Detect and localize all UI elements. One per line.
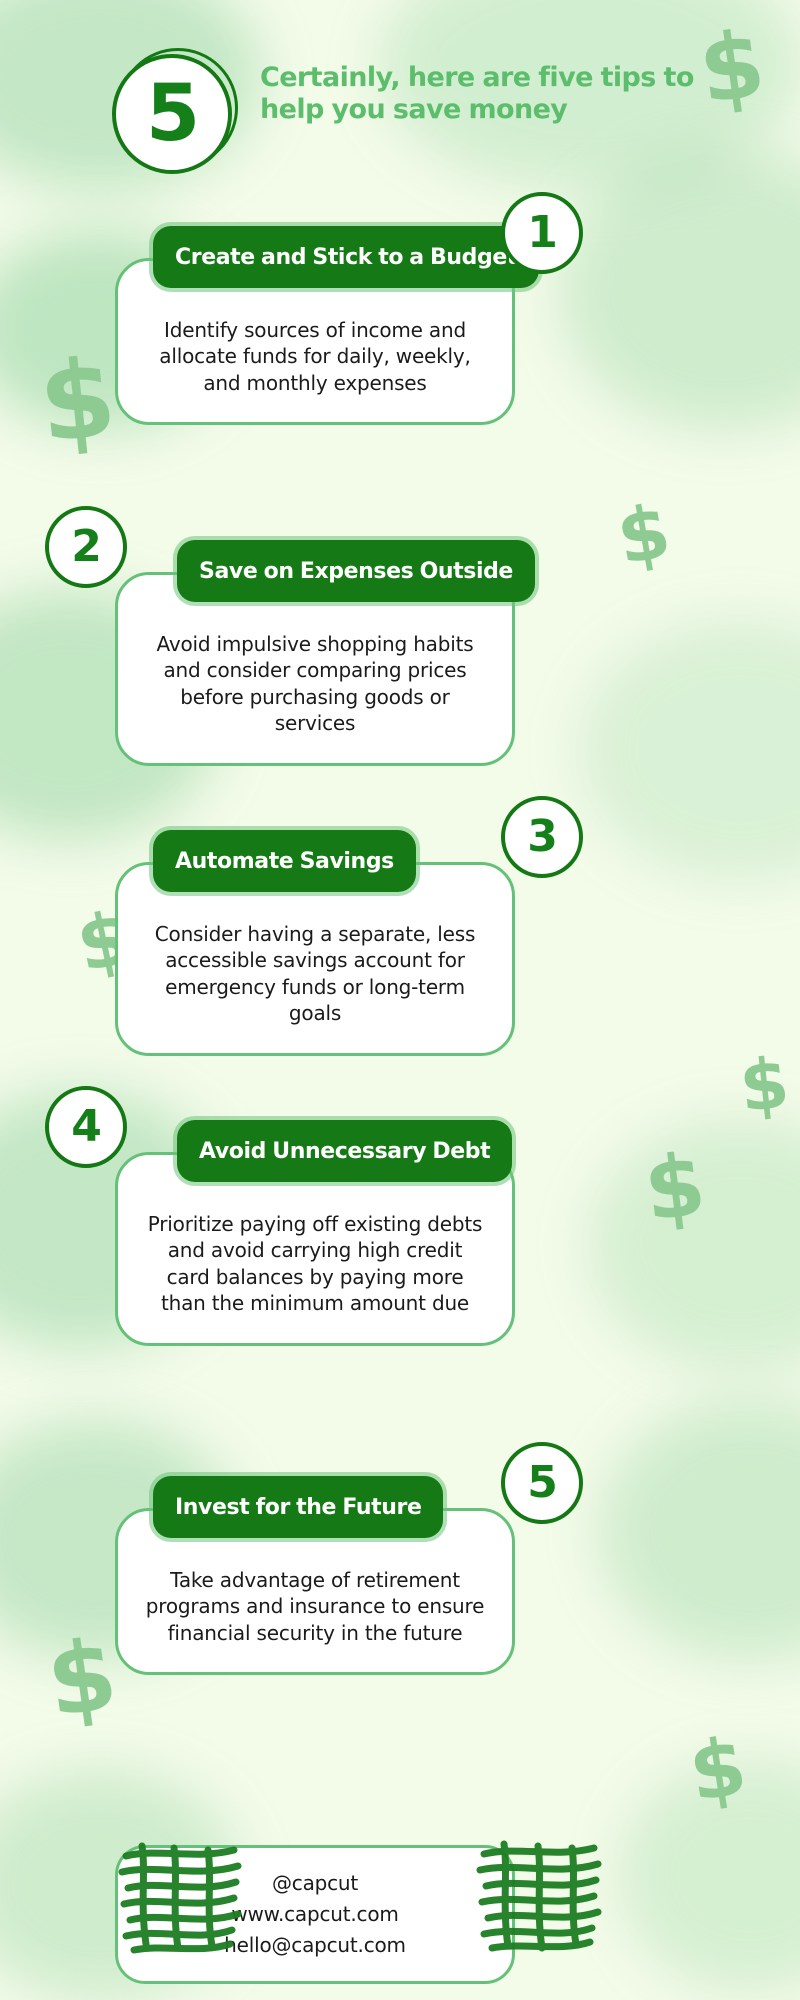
- tip-card-1-number-badge: 1: [501, 192, 583, 274]
- footer-website[interactable]: www.capcut.com: [136, 1899, 494, 1930]
- tip-card-2-header: Save on Expenses Outside: [177, 540, 535, 602]
- hero-badge-number: 5: [146, 75, 198, 153]
- hero-ring-inner: 5: [112, 54, 232, 174]
- tip-card-5-number: 5: [527, 1461, 557, 1505]
- tip-card-2-number-badge: 2: [45, 506, 127, 588]
- footer-handle: @capcut: [136, 1868, 494, 1899]
- tip-card-1-description: Identify sources of income and allocate …: [144, 317, 486, 396]
- tip-card-4-number-badge: 4: [45, 1086, 127, 1168]
- tip-card-4-header: Avoid Unnecessary Debt: [177, 1120, 512, 1182]
- tip-card-4-description: Prioritize paying off existing debts and…: [144, 1211, 486, 1317]
- tip-card-2-number: 2: [71, 525, 101, 569]
- tip-card-3-title: Automate Savings: [175, 849, 394, 874]
- tip-card-5-title: Invest for the Future: [175, 1495, 421, 1520]
- tip-card-4: Avoid Unnecessary Debt 4 Prioritize payi…: [115, 1152, 515, 1346]
- hero-number-badge: 5: [112, 48, 238, 174]
- tip-card-1: Create and Stick to a Budget 1 Identify …: [115, 258, 515, 425]
- tip-card-2: Save on Expenses Outside 2 Avoid impulsi…: [115, 572, 515, 766]
- tip-card-5-description: Take advantage of retirement programs an…: [144, 1567, 486, 1646]
- tip-card-5-header: Invest for the Future: [153, 1476, 443, 1538]
- tip-card-2-description: Avoid impulsive shopping habits and cons…: [144, 631, 486, 737]
- tip-card-3: Automate Savings 3 Consider having a sep…: [115, 862, 515, 1056]
- footer-contact-card: @capcut www.capcut.com hello@capcut.com: [115, 1845, 515, 1984]
- tip-card-4-title: Avoid Unnecessary Debt: [199, 1139, 490, 1164]
- tip-card-3-description: Consider having a separate, less accessi…: [144, 921, 486, 1027]
- footer-email[interactable]: hello@capcut.com: [136, 1930, 494, 1961]
- tip-card-3-number-badge: 3: [501, 796, 583, 878]
- tip-card-1-header: Create and Stick to a Budget: [153, 226, 539, 288]
- tip-card-2-title: Save on Expenses Outside: [199, 559, 513, 584]
- header: 5 Certainly, here are five tips to help …: [112, 48, 702, 188]
- tip-card-3-number: 3: [527, 815, 557, 859]
- tip-card-1-number: 1: [527, 211, 557, 255]
- tip-card-3-header: Automate Savings: [153, 830, 416, 892]
- tip-card-1-title: Create and Stick to a Budget: [175, 245, 517, 270]
- tip-card-5: Invest for the Future 5 Take advantage o…: [115, 1508, 515, 1675]
- infographic-page: 5 Certainly, here are five tips to help …: [0, 0, 800, 2000]
- tip-card-4-number: 4: [71, 1105, 101, 1149]
- tip-card-5-number-badge: 5: [501, 1442, 583, 1524]
- page-title: Certainly, here are five tips to help yo…: [260, 48, 702, 127]
